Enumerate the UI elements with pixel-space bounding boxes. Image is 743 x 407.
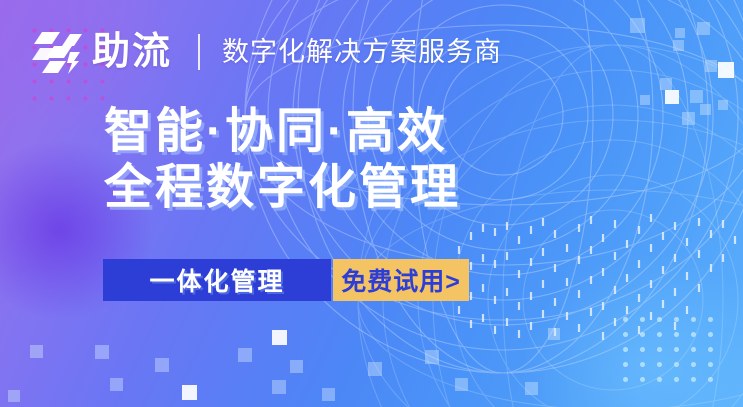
logo-wordmark: 助流 — [92, 33, 172, 71]
headline-line-2: 全程数字化管理 — [104, 160, 461, 216]
dot-grid-right — [617, 312, 717, 390]
marketing-banner: 助流 数字化解决方案服务商 智能·协同·高效 全程数字化管理 一体化管理 免费试… — [0, 0, 743, 407]
concentric-arc-rings-secondary-icon — [353, 40, 743, 407]
header-divider — [198, 34, 200, 70]
header-tagline: 数字化解决方案服务商 — [222, 39, 502, 66]
bottom-right-glow — [473, 207, 743, 407]
cta-row: 一体化管理 免费试用> — [103, 259, 469, 301]
headline-block: 智能·协同·高效 全程数字化管理 — [104, 104, 461, 216]
integrated-management-button[interactable]: 一体化管理 — [103, 259, 331, 301]
lightning-bolt-logo-icon[interactable] — [30, 28, 86, 76]
dotted-waveform-icon — [455, 210, 743, 340]
free-trial-button[interactable]: 免费试用> — [333, 259, 469, 301]
headline-line-1: 智能·协同·高效 — [104, 104, 461, 160]
brand-header: 助流 数字化解决方案服务商 — [30, 26, 502, 78]
